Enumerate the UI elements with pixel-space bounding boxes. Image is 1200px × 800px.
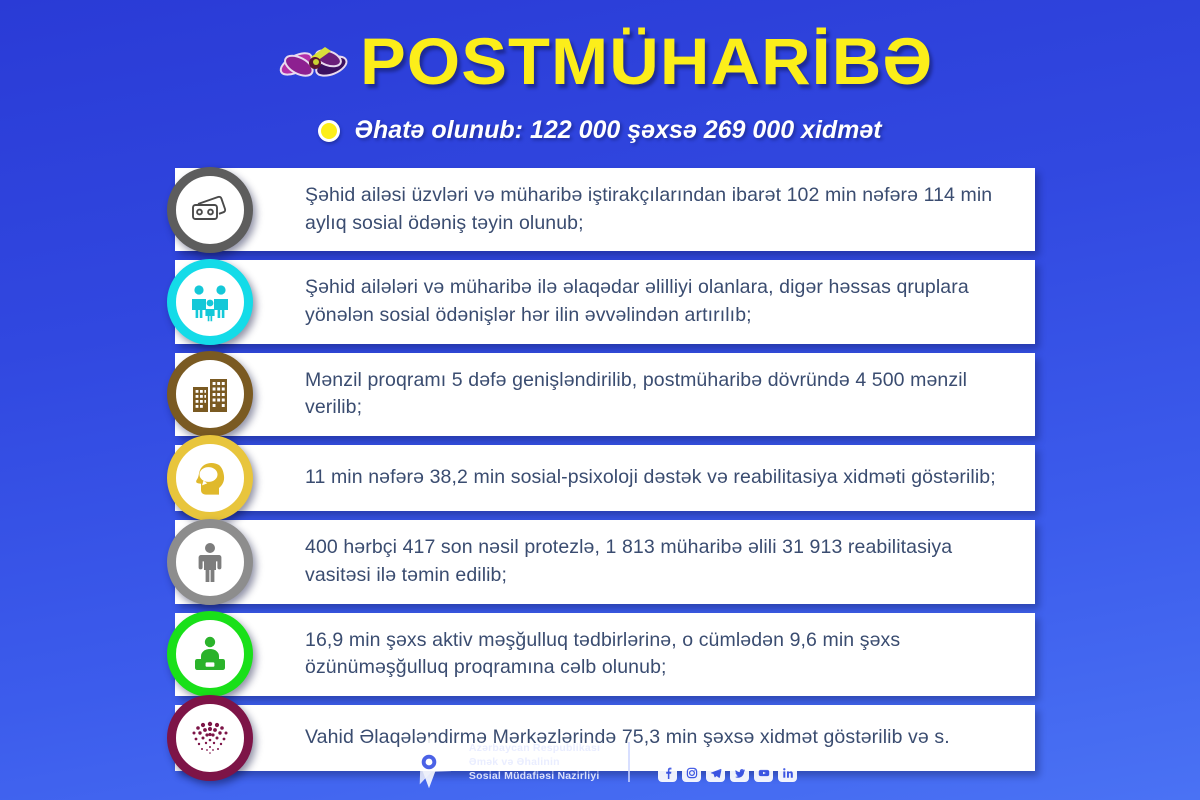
fact-card: 400 hərbçi 417 son nəsil protezlə, 1 813… <box>175 520 1035 603</box>
prosthetics-person-icon <box>167 519 253 605</box>
twitter-icon[interactable] <box>730 763 749 782</box>
apartment-building-icon <box>167 351 253 437</box>
fact-card: Şəhid ailəsi üzvləri və müharibə iştirak… <box>175 168 1035 251</box>
fact-text: Şəhid ailələri və müharibə ilə əlaqədar … <box>305 274 1009 329</box>
fact-text: Şəhid ailəsi üzvləri və müharibə iştirak… <box>305 182 1009 237</box>
fact-text: 16,9 min şəxs aktiv məşğulluq tədbirləri… <box>305 627 1009 682</box>
page-title: POSTMÜHARİBƏ <box>360 28 933 94</box>
title-row: POSTMÜHARİBƏ <box>0 22 1200 100</box>
list-item: Şəhid ailəsi üzvləri və müharibə iştirak… <box>175 168 1035 251</box>
facebook-icon[interactable] <box>658 763 677 782</box>
list-item: 11 min nəfərə 38,2 min sosial-psixoloji … <box>175 445 1035 511</box>
dotted-radial-icon <box>167 695 253 781</box>
butterfly-orchid-logo-icon <box>277 32 353 94</box>
fact-text: 400 hərbçi 417 son nəsil protezlə, 1 813… <box>305 534 1009 589</box>
fact-text: 11 min nəfərə 38,2 min sosial-psixoloji … <box>305 464 996 492</box>
social-row <box>658 763 797 782</box>
youtube-icon[interactable] <box>754 763 773 782</box>
azerbaijan-ministry-emblem-icon <box>403 736 455 788</box>
instagram-icon[interactable] <box>682 763 701 782</box>
linkedin-icon[interactable] <box>778 763 797 782</box>
list-item: 400 hərbçi 417 son nəsil protezlə, 1 813… <box>175 520 1035 603</box>
website-url[interactable]: sosial.gov.az <box>658 742 797 757</box>
banknotes-icon <box>167 167 253 253</box>
ministry-line-2: Əmək və Əhalinin <box>469 755 600 769</box>
list-item: Mənzil proqramı 5 dəfə genişləndirilib, … <box>175 353 1035 436</box>
poster-subtitle: Əhatə olunub: 122 000 şəxsə 269 000 xidm… <box>354 116 881 145</box>
infographic-poster: POSTMÜHARİBƏ Əhatə olunub: 122 000 şəxsə… <box>0 0 1200 800</box>
psychology-head-icon <box>167 435 253 521</box>
employment-worker-icon <box>167 611 253 697</box>
list-item: Şəhid ailələri və müharibə ilə əlaqədar … <box>175 260 1035 343</box>
telegram-icon[interactable] <box>706 763 725 782</box>
poster-header: POSTMÜHARİBƏ Əhatə olunub: 122 000 şəxsə… <box>0 22 1200 152</box>
ministry-line-1: Azərbaycan Respublikası <box>469 741 600 755</box>
fact-card: Şəhid ailələri və müharibə ilə əlaqədar … <box>175 260 1035 343</box>
list-item: 16,9 min şəxs aktiv məşğulluq tədbirləri… <box>175 613 1035 696</box>
fact-card: 16,9 min şəxs aktiv məşğulluq tədbirləri… <box>175 613 1035 696</box>
subtitle-row: Əhatə olunub: 122 000 şəxsə 269 000 xidm… <box>0 116 1200 145</box>
web-block: sosial.gov.az <box>658 742 797 782</box>
fact-text: Mənzil proqramı 5 dəfə genişləndirilib, … <box>305 367 1009 422</box>
fact-card: 11 min nəfərə 38,2 min sosial-psixoloji … <box>175 445 1035 511</box>
ministry-line-3: Sosial Müdafiəsi Nazirliyi <box>469 769 600 783</box>
yellow-bullet-icon <box>318 120 340 142</box>
ministry-name: Azərbaycan Respublikası Əmək və Əhalinin… <box>469 741 600 784</box>
fact-card: Mənzil proqramı 5 dəfə genişləndirilib, … <box>175 353 1035 436</box>
footer-divider <box>628 742 630 782</box>
family-icon <box>167 259 253 345</box>
fact-list: Şəhid ailəsi üzvləri və müharibə iştirak… <box>175 168 1035 780</box>
